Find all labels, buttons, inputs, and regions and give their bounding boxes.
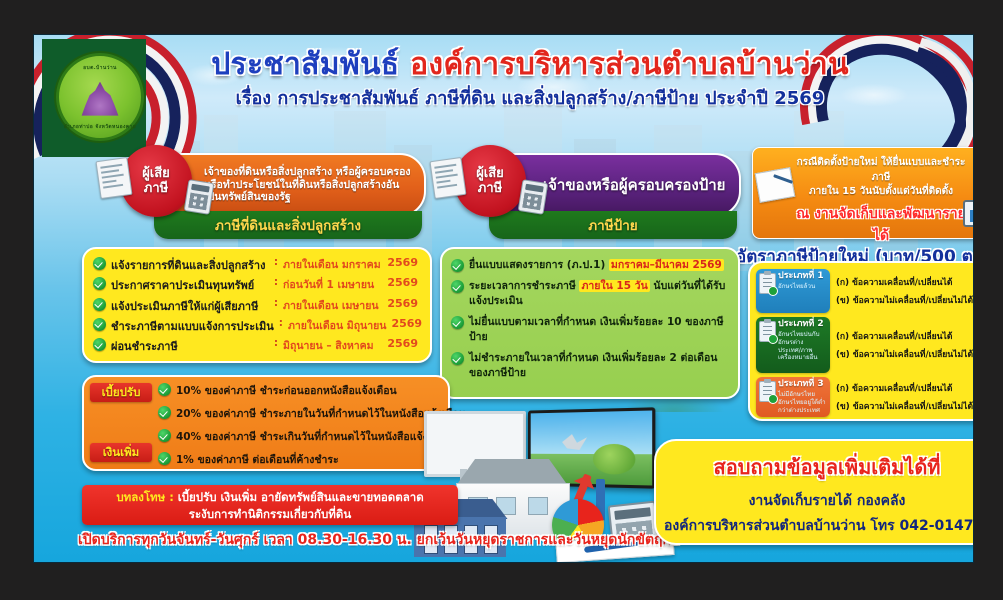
rate-2a-label: (ก) ข้อความเคลื่อนที่/เปลี่ยนได้ [836,329,952,343]
table-row: ประเภทที่ 1 อักษรไทยล้วน (ก) ข้อความเคลื… [756,269,974,313]
land-row-deadline: ภายในเดือน เมษายน [283,297,382,314]
list-item: ระยะเวลาการชำระภาษี ภายใน 15 วัน นับแต่ว… [451,279,730,308]
rate-type-3-label: ประเภทที่ 3 ไม่มีอักษรไทย อักษรไทยอยู่ใต… [756,377,830,417]
land-row-year: 2569 [387,297,422,310]
check-icon [158,429,171,442]
rate-type-1-label: ประเภทที่ 1 อักษรไทยล้วน [756,269,830,313]
sign-item-highlight: มกราคม–มีนาคม 2569 [609,259,724,271]
sign-item-highlight: ภายใน 15 วัน [579,280,649,292]
contact-line-2: องค์การบริหารส่วนตำบลบ้านว่าน โทร 042-01… [664,515,974,537]
calculator-icon [184,179,215,215]
sign-tax-info-card: ยื่นแบบแสดงรายการ (ภ.ป.1) มกราคม–มีนาคม … [440,247,740,399]
document-icon [430,157,467,199]
check-icon [451,259,464,272]
service-hours-text: เปิดบริการทุกวันจันทร์-วันศุกร์ เวลา 08.… [78,529,638,551]
emblem-bottom-text: อำเภอท่าบ่อ จังหวัดหนองคาย [59,123,141,131]
contact-box: สอบถามข้อมูลเพิ่มเติมได้ที่ งานจัดเก็บรา… [654,439,974,545]
punishment-banner: บทลงโทษ : เบี้ยปรับ เงินเพิ่ม อายัดทรัพย… [82,485,458,525]
rate-1a-label: (ก) ข้อความเคลื่อนที่/เปลี่ยนได้ [836,275,952,289]
rate-type-1-title: ประเภทที่ 1 [778,272,826,282]
list-item: ไม่ชำระภายในเวลาที่กำหนด เงินเพิ่มร้อยละ… [451,351,730,380]
penalty-card: เบี้ยปรับ เงินเพิ่ม 10% ของค่าภาษี ชำระก… [82,375,450,471]
clipboard-icon [759,381,776,402]
section-tab-sign-tax: ภาษีป้าย [489,211,737,239]
check-icon [158,452,171,465]
land-row-year: 2569 [387,337,422,350]
land-row-deadline: ภายในเดือน มิถุนายน [288,317,387,334]
organization-emblem-panel: อบต.บ้านว่าน อำเภอท่าบ่อ จังหวัดหนองคาย [42,39,146,157]
sign-item-text: ระยะเวลาการชำระภาษี ภายใน 15 วัน นับแต่ว… [469,279,730,308]
land-row-sep: : [279,317,283,329]
clipboard-icon [759,273,776,294]
table-row: แจ้งรายการที่ดินและสิ่งปลูกสร้าง:ภายในเด… [93,256,422,274]
rate-type-1-sub: อักษรไทยล้วน [778,283,826,291]
sign-tax-rate-table: ประเภทที่ 1 อักษรไทยล้วน (ก) ข้อความเคลื… [748,261,974,421]
check-icon [451,352,464,365]
land-taxpayer-badge: ผู้เสีย ภาษี [120,145,192,217]
new-sign-notice-box: กรณีติดตั้งป้ายใหม่ ให้ยื่นแบบและชำระภาษ… [752,147,974,239]
land-tax-schedule-card: แจ้งรายการที่ดินและสิ่งปลูกสร้าง:ภายในเด… [82,247,432,363]
poster: อบต.บ้านว่าน อำเภอท่าบ่อ จังหวัดหนองคาย … [33,34,974,563]
land-row-label: ผ่อนชำระภาษี [111,337,269,355]
land-badge-line1: ผู้เสีย [142,166,170,181]
page-title: ประชาสัมพันธ์ องค์การบริหารส่วนตำบลบ้านว… [150,49,910,81]
list-item: ไม่ยื่นแบบตามเวลาที่กำหนด เงินเพิ่มร้อยล… [451,315,730,344]
emblem-top-text: อบต.บ้านว่าน [59,64,141,72]
land-row-deadline: ก่อนวันที่ 1 เมษายน [283,276,382,293]
calculator-icon [518,179,549,215]
land-row-deadline: มิถุนายน – สิงหาคม [283,337,382,354]
check-icon [451,316,464,329]
punishment-tag: บทลงโทษ : [116,490,173,504]
contact-heading: สอบถามข้อมูลเพิ่มเติมได้ที่ [664,451,974,483]
page-subtitle: เรื่อง การประชาสัมพันธ์ ภาษีที่ดิน และสิ… [150,83,910,112]
clipboard-icon [759,321,776,342]
punishment-line-2: ระงับการทำนิติกรรมเกี่ยวกับที่ดิน [90,506,450,522]
contact-line-1: งานจัดเก็บรายได้ กองคลัง [664,490,974,512]
table-row: ประเภทที่ 2 อักษรไทยปนกับอักษรต่างประเทศ… [756,317,974,373]
monitor-chart-icon [963,200,974,234]
land-row-sep: : [274,256,278,268]
land-row-year: 2569 [387,276,422,289]
sign-item-text: ไม่ยื่นแบบตามเวลาที่กำหนด เงินเพิ่มร้อยล… [469,315,730,344]
check-icon [93,298,106,311]
poster-header: ประชาสัมพันธ์ องค์การบริหารส่วนตำบลบ้านว… [150,49,910,112]
check-icon [158,406,171,419]
section-tab-land-tax: ภาษีที่ดินและสิ่งปลูกสร้าง [154,211,422,239]
rate-3a-label: (ก) ข้อความเคลื่อนที่/เปลี่ยนได้ [836,381,952,395]
check-icon [93,338,106,351]
rate-type-3-title: ประเภทที่ 3 [778,380,826,390]
list-item: ยื่นแบบแสดงรายการ (ภ.ป.1) มกราคม–มีนาคม … [451,258,730,272]
rate-type-3-sub: ไม่มีอักษรไทย อักษรไทยอยู่ใต้ต่ำกว่าต่าง… [778,391,826,414]
list-item: 10% ของค่าภาษี ชำระก่อนออกหนังสือแจ้งเตื… [158,382,442,399]
organization-seal-icon: อบต.บ้านว่าน อำเภอท่าบ่อ จังหวัดหนองคาย [56,53,144,141]
rate-type-2-title: ประเภทที่ 2 [778,320,826,330]
table-row: ประเภทที่ 3 ไม่มีอักษรไทย อักษรไทยอยู่ใต… [756,377,974,417]
rate-2b-label: (ข) ข้อความไม่เคลื่อนที่/เปลี่ยนไม่ได้ [836,347,973,361]
check-icon [93,277,106,290]
check-icon [451,280,464,293]
land-row-label: ประกาศราคาประเมินทุนทรัพย์ [111,276,269,294]
land-row-sep: : [274,337,278,349]
sign-item-text: ไม่ชำระภายในเวลาที่กำหนด เงินเพิ่มร้อยละ… [469,351,730,380]
notice-line-1: กรณีติดตั้งป้ายใหม่ ให้ยื่นแบบและชำระภาษ… [793,156,969,185]
sign-badge-line1: ผู้เสีย [476,166,504,181]
check-icon [93,318,106,331]
land-row-deadline: ภายในเดือน มกราคม [283,256,382,273]
notice-line-2: ภายใน 15 วันนับตั้งแต่วันที่ติดตั้ง [793,185,969,200]
pen-document-icon [755,167,796,203]
land-badge-line2: ภาษี [144,181,168,196]
rate-3b-label: (ข) ข้อความไม่เคลื่อนที่/เปลี่ยนไม่ได้ [836,399,973,413]
list-item: 40% ของค่าภาษี ชำระเกินวันที่กำหนดไว้ในห… [158,428,442,445]
land-row-label: แจ้งรายการที่ดินและสิ่งปลูกสร้าง [111,256,269,274]
penalty-item-text: 10% ของค่าภาษี ชำระก่อนออกหนังสือแจ้งเตื… [176,382,397,399]
check-icon [158,383,171,396]
fine-tag: เบี้ยปรับ [90,383,152,402]
title-red-part: องค์การบริหารส่วนตำบลบ้านว่าน [410,47,849,82]
table-row: แจ้งประเมินภาษีให้แก่ผู้เสียภาษี:ภายในเด… [93,297,422,315]
table-row: ประกาศราคาประเมินทุนทรัพย์:ก่อนวันที่ 1 … [93,276,422,294]
screenshot-canvas: อบต.บ้านว่าน อำเภอท่าบ่อ จังหวัดหนองคาย … [0,0,1003,600]
rate-type-2-sub: อักษรไทยปนกับอักษรต่างประเทศ/ภาพเครื่องห… [778,331,826,362]
rate-type-2-label: ประเภทที่ 2 อักษรไทยปนกับอักษรต่างประเทศ… [756,317,830,373]
surcharge-tag: เงินเพิ่ม [90,443,152,462]
land-row-sep: : [274,297,278,309]
table-row: ผ่อนชำระภาษี:มิถุนายน – สิงหาคม2569 [93,337,422,355]
list-item: 20% ของค่าภาษี ชำระภายในวันที่กำหนดไว้ใน… [158,405,442,422]
land-row-year: 2569 [391,317,426,330]
land-row-sep: : [274,276,278,288]
land-row-year: 2569 [387,256,422,269]
table-row: ชำระภาษีตามแบบแจ้งการประเมิน:ภายในเดือน … [93,317,422,335]
document-icon [96,157,133,199]
land-row-label: ชำระภาษีตามแบบแจ้งการประเมิน [111,317,274,335]
title-blue-part: ประชาสัมพันธ์ [211,47,399,82]
rate-1b-label: (ข) ข้อความไม่เคลื่อนที่/เปลี่ยนไม่ได้ [836,293,973,307]
land-row-label: แจ้งประเมินภาษีให้แก่ผู้เสียภาษี [111,297,269,315]
sign-item-text: ยื่นแบบแสดงรายการ (ภ.ป.1) มกราคม–มีนาคม … [469,258,724,272]
punishment-text-1: เบี้ยปรับ เงินเพิ่ม อายัดทรัพย์สินและขาย… [174,490,424,504]
sign-badge-line2: ภาษี [478,181,502,196]
sign-taxpayer-badge: ผู้เสีย ภาษี [454,145,526,217]
notice-line-3: ณ งานจัดเก็บและพัฒนารายได้ [793,203,969,247]
penalty-item-text: 1% ของค่าภาษี ต่อเดือนที่ค้างชำระ [176,451,339,468]
list-item: 1% ของค่าภาษี ต่อเดือนที่ค้างชำระ [158,451,442,468]
check-icon [93,257,106,270]
punishment-line-1: บทลงโทษ : เบี้ยปรับ เงินเพิ่ม อายัดทรัพย… [90,489,450,506]
